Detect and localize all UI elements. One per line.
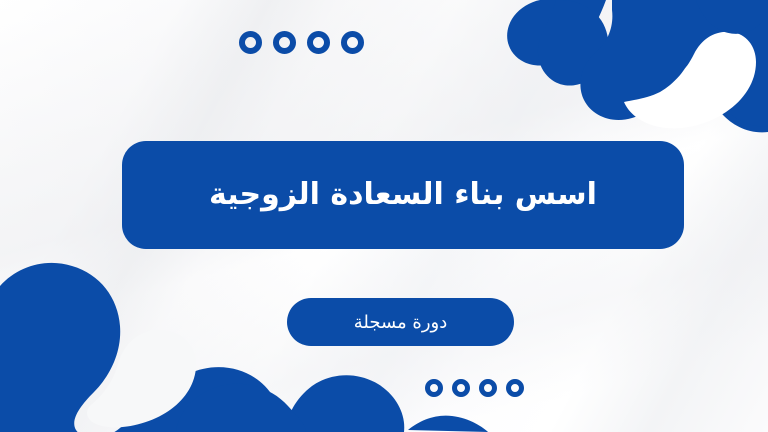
- ring-dot-icon: [506, 379, 524, 397]
- title-card: اسس بناء السعادة الزوجية: [122, 141, 684, 249]
- ring-dot-icon: [239, 31, 262, 54]
- course-banner: اسس بناء السعادة الزوجية دورة مسجلة: [0, 0, 768, 432]
- subtitle-pill: دورة مسجلة: [287, 298, 514, 346]
- dots-row-bottom: [425, 379, 524, 397]
- banner-subtitle: دورة مسجلة: [354, 312, 447, 333]
- ring-dot-icon: [425, 379, 443, 397]
- ring-dot-icon: [479, 379, 497, 397]
- ring-dot-icon: [273, 31, 296, 54]
- dots-row-top: [239, 31, 364, 54]
- banner-title: اسس بناء السعادة الزوجية: [209, 176, 597, 214]
- ring-dot-icon: [452, 379, 470, 397]
- ring-dot-icon: [307, 31, 330, 54]
- ring-dot-icon: [341, 31, 364, 54]
